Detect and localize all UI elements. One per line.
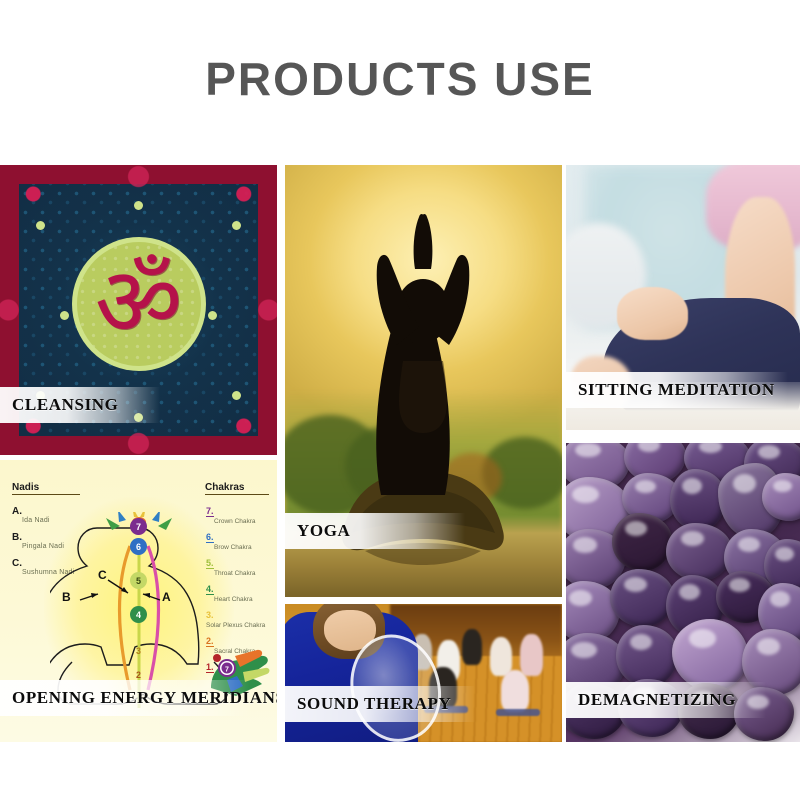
panel-label-opening-energy-meridians: OPENING ENERGY MERIDIANS: [0, 680, 250, 716]
amethyst-stone: [616, 625, 678, 687]
panel-demagnetizing[interactable]: DEMAGNETIZING: [566, 443, 800, 742]
panel-label-text: SOUND THERAPY: [297, 694, 451, 714]
panel-sitting-meditation[interactable]: SITTING MEDITATION: [566, 165, 800, 430]
yoga-mat: [496, 709, 540, 716]
panel-label-text: SITTING MEDITATION: [578, 380, 775, 400]
class-participant: [520, 634, 542, 675]
panel-label-text: DEMAGNETIZING: [578, 690, 736, 710]
panel-label-sitting-meditation: SITTING MEDITATION: [566, 372, 788, 408]
panel-label-cleansing: CLEANSING: [0, 387, 160, 423]
amethyst-stone: [612, 513, 672, 571]
panel-label-demagnetizing: DEMAGNETIZING: [566, 682, 766, 718]
page-title: PRODUCTS USE: [0, 52, 800, 106]
class-participant: [462, 629, 481, 665]
panel-label-text: OPENING ENERGY MERIDIANS: [12, 688, 277, 708]
amethyst-stone: [610, 569, 674, 627]
amethyst-stone: [666, 523, 732, 581]
mudra-hand: [617, 287, 687, 340]
product-use-collage: PRODUCTS USE: [0, 0, 800, 800]
panel-label-text: YOGA: [297, 521, 350, 541]
svg-text:7: 7: [225, 667, 229, 674]
panel-sound-therapy[interactable]: SOUND THERAPY: [285, 604, 562, 742]
panel-label-text: CLEANSING: [12, 395, 118, 415]
panel-opening-energy-meridians[interactable]: Nadis Chakras A. Ida Nadi B. Pingala Nad…: [0, 460, 277, 742]
class-participant: [501, 670, 529, 711]
panel-yoga[interactable]: YOGA: [285, 165, 562, 597]
panel-label-sound-therapy: SOUND THERAPY: [285, 686, 475, 722]
panel-label-yoga: YOGA: [285, 513, 465, 549]
panel-cleansing[interactable]: ॐ CLEANSING: [0, 165, 277, 455]
